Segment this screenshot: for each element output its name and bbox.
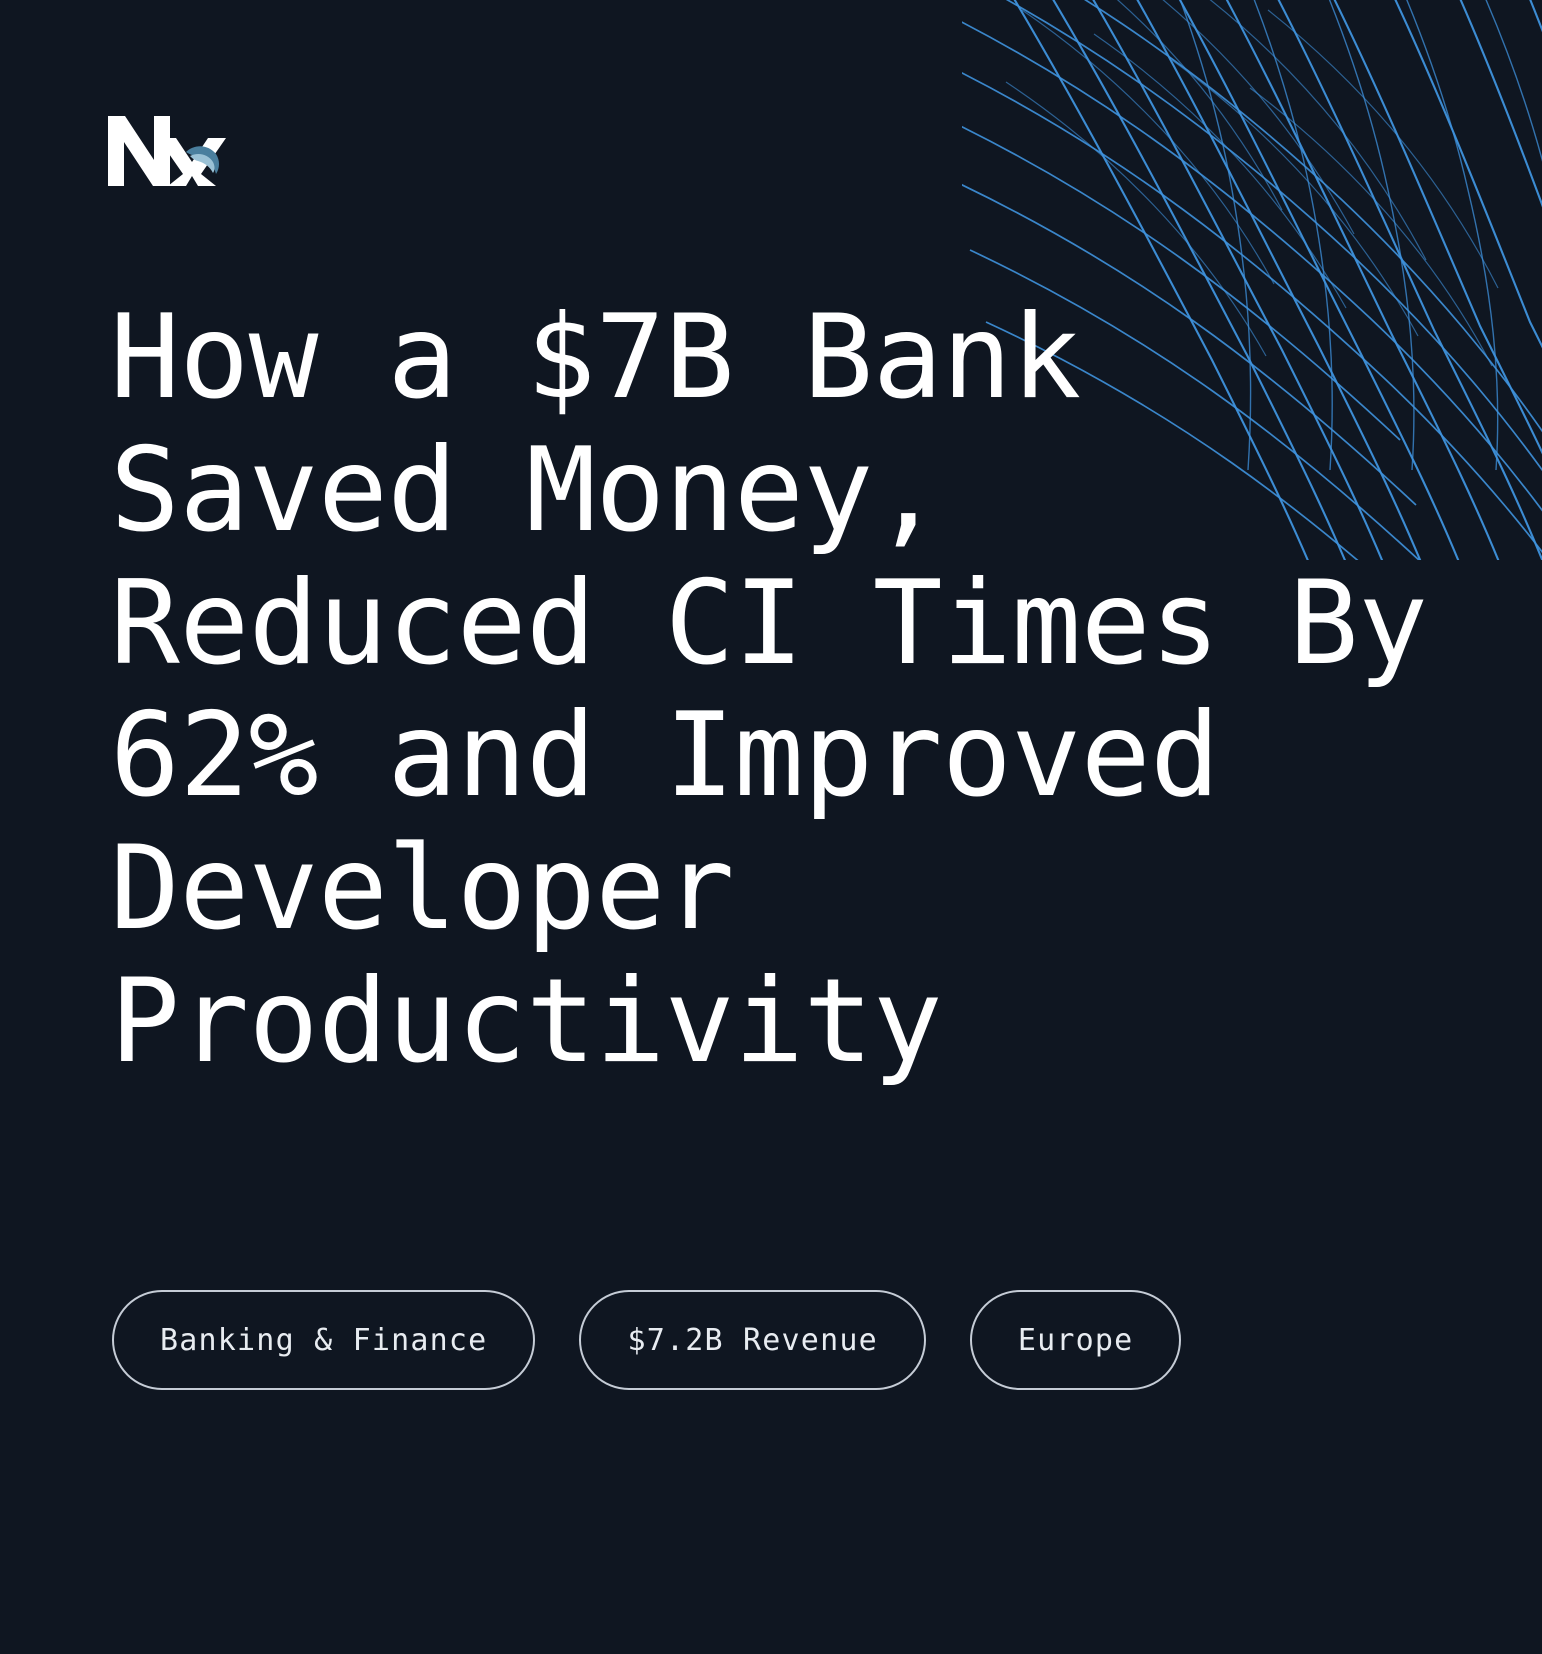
badge-revenue[interactable]: $7.2B Revenue (579, 1290, 925, 1390)
badge-industry[interactable]: Banking & Finance (112, 1290, 535, 1390)
case-study-hero-card: How a $7B Bank Saved Money, Reduced CI T… (0, 0, 1542, 1654)
badge-region[interactable]: Europe (970, 1290, 1182, 1390)
metadata-badges: Banking & Finance $7.2B Revenue Europe (112, 1290, 1181, 1390)
nx-logo[interactable] (106, 112, 230, 190)
page-title: How a $7B Bank Saved Money, Reduced CI T… (110, 292, 1430, 1089)
nx-logo-letter-n (108, 116, 170, 186)
